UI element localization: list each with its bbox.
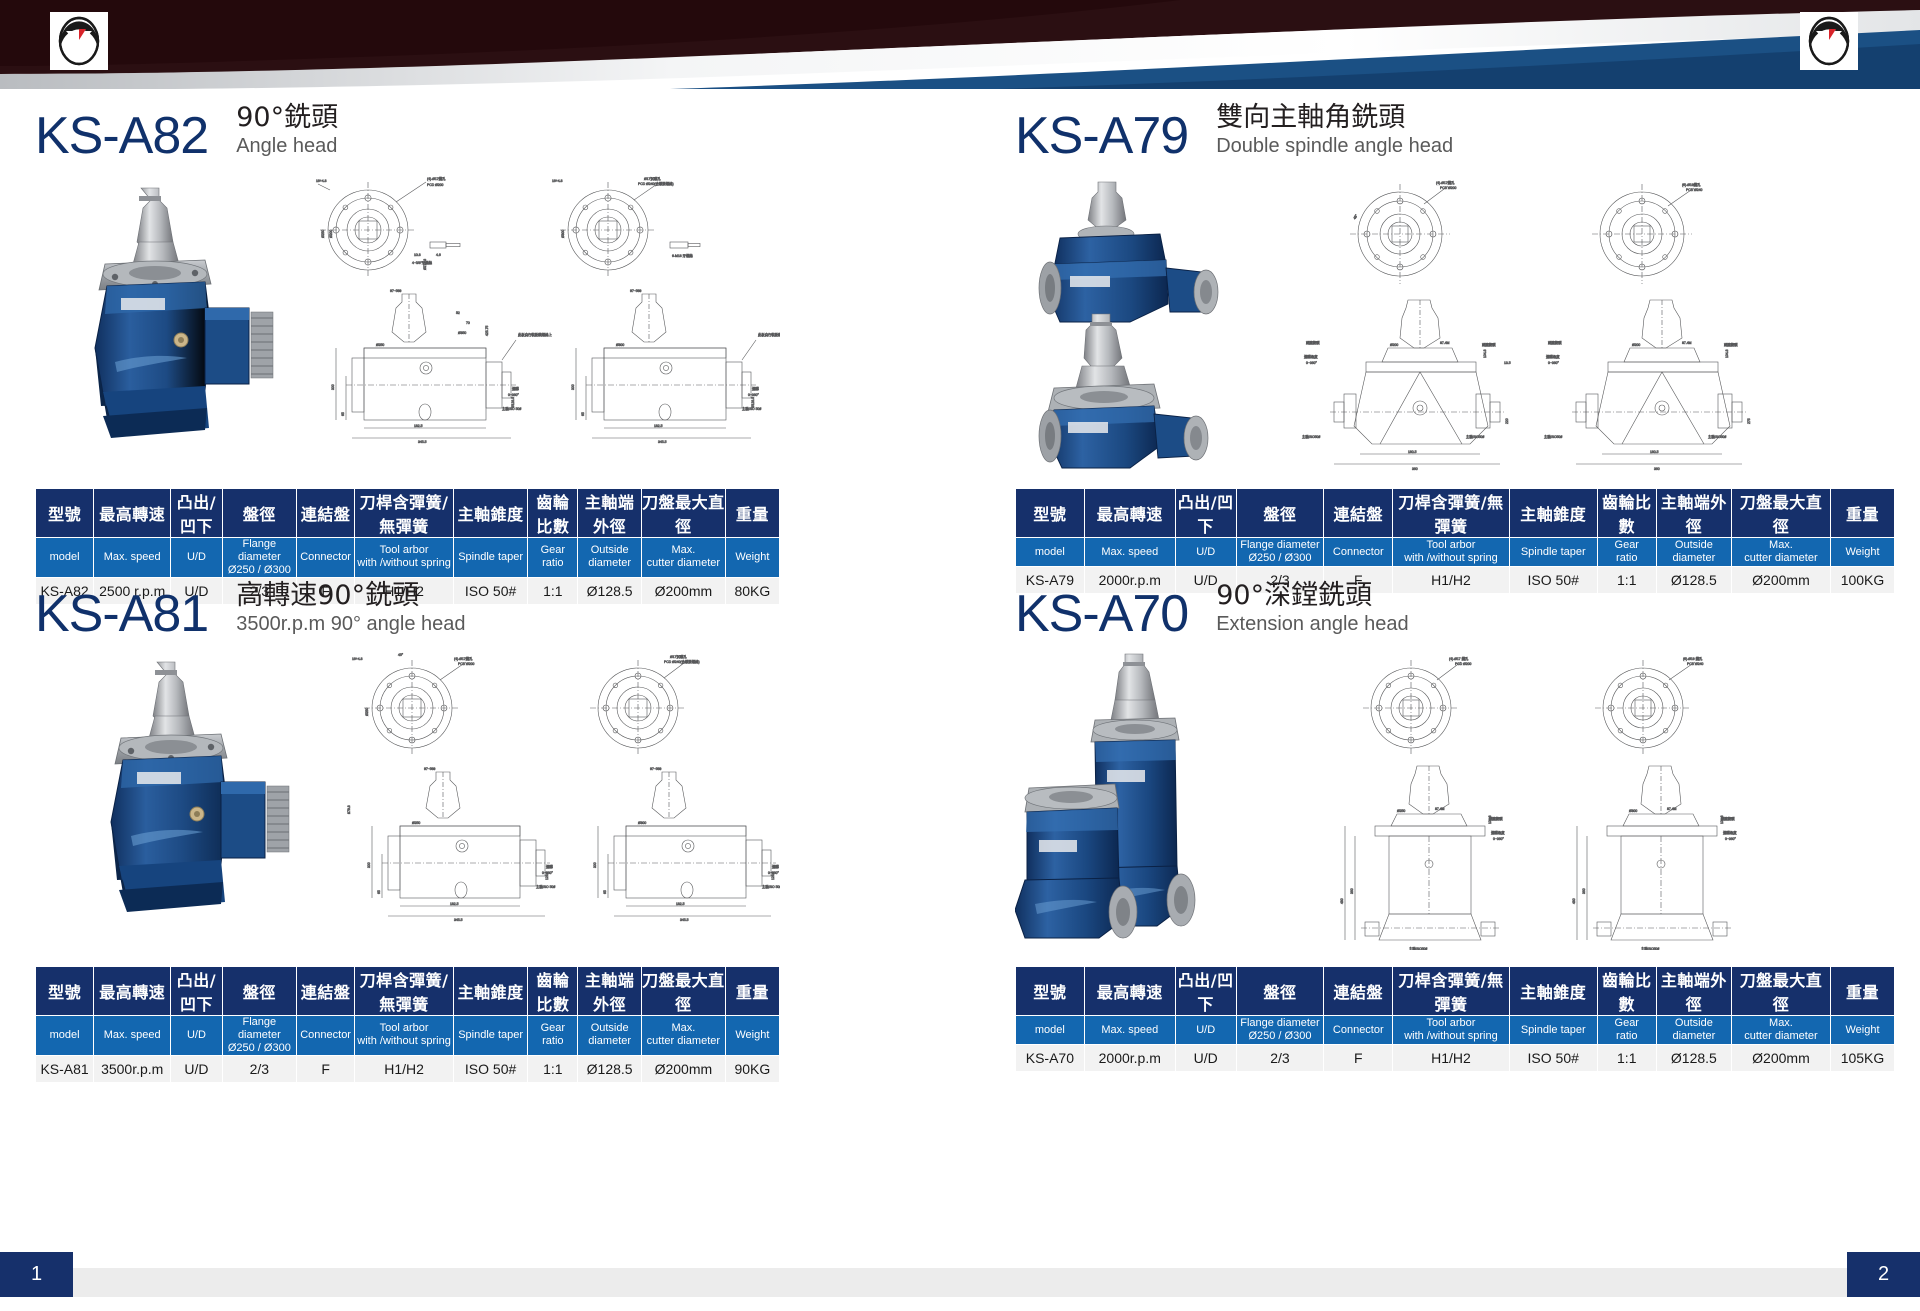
spec-header-cn-cell-3: 盤徑 xyxy=(1236,489,1324,538)
svg-text:182.5: 182.5 xyxy=(654,424,663,428)
svg-text:0~360°: 0~360° xyxy=(508,393,520,397)
product-title-cn: 90°深鏜銑頭 xyxy=(1216,581,1408,611)
svg-text:87.4M: 87.4M xyxy=(1667,807,1677,811)
svg-text:迴轉角度: 迴轉角度 xyxy=(1304,354,1318,359)
company-y-logo-icon xyxy=(1803,15,1855,67)
spec-header-cn-cell-1: 最高轉速 xyxy=(94,967,171,1016)
spec-header-cn-cell-7: 齒輪比數 xyxy=(1597,967,1656,1016)
ks-a70-product-photo xyxy=(1015,650,1235,965)
svg-text:Ø250: Ø250 xyxy=(412,821,420,825)
spec-value-0: KS-A70 xyxy=(1016,1045,1085,1072)
spec-header-cn-cell-10: 重量 xyxy=(1831,967,1895,1016)
svg-text:300: 300 xyxy=(571,384,575,390)
ks-a79-product-photo xyxy=(1020,172,1250,487)
spec-header-cn-cell-6: 主軸錐度 xyxy=(453,967,527,1016)
spec-header-en-cell-7: Gearratio xyxy=(1597,538,1656,567)
svg-text:主軸ISO50#: 主軸ISO50# xyxy=(1641,946,1659,950)
spec-table-body: 型號最高轉速凸出/凹下盤徑連結盤刀桿含彈簧/無彈簧主軸錐度齒輪比數主軸端外徑刀盤… xyxy=(1016,967,1895,1072)
svg-text:0~360°: 0~360° xyxy=(542,871,554,875)
spec-header-cn-cell-0: 型號 xyxy=(36,967,94,1016)
svg-text:10.8: 10.8 xyxy=(414,253,421,257)
svg-text:87.4M: 87.4M xyxy=(1440,341,1450,345)
svg-text:345.5: 345.5 xyxy=(418,440,427,444)
product-figure-area: (4)-Ø17 鑽孔 PCD Ø200 xyxy=(1015,650,1895,960)
svg-text:主軸ISO50#: 主軸ISO50# xyxy=(1708,434,1726,439)
svg-text:迴轉角度: 迴轉角度 xyxy=(1491,830,1505,835)
svg-text:0~360°: 0~360° xyxy=(1548,361,1560,365)
svg-text:360: 360 xyxy=(1582,888,1586,894)
spec-header-en-cell-0: model xyxy=(1016,1016,1085,1045)
spec-header-cn-cell-8: 主軸端外徑 xyxy=(1656,489,1731,538)
svg-text:PCD Ø240: PCD Ø240 xyxy=(1687,662,1704,666)
product-title-row: KS-A82 90°銑頭 Angle head xyxy=(35,92,780,162)
product-section-ks-a70: KS-A70 90°深鏜銑頭 Extension angle head xyxy=(1015,570,1895,1072)
spec-header-en-cell-6: Spindle taper xyxy=(453,1016,527,1056)
spec-header-en-cell-10: Weight xyxy=(1831,538,1895,567)
svg-text:主軸ISO50#: 主軸ISO50# xyxy=(1544,434,1562,439)
svg-text:0~360°: 0~360° xyxy=(1725,837,1737,841)
spec-value-10: 90KG xyxy=(725,1055,779,1082)
spec-header-en-cell-4: Connector xyxy=(1324,1016,1393,1045)
svg-text:4.6: 4.6 xyxy=(436,253,441,257)
spec-header-cn-cell-8: 主軸端外徑 xyxy=(578,967,642,1016)
spec-header-en-cell-0: model xyxy=(36,1016,94,1056)
svg-text:16+4.8: 16+4.8 xyxy=(552,179,563,183)
ks-a70-technical-drawing: (4)-Ø17 鑽孔 PCD Ø200 xyxy=(1295,650,1895,950)
svg-text:迴轉: 迴轉 xyxy=(546,864,553,869)
svg-text:刺塵接頭: 刺塵接頭 xyxy=(1548,340,1562,345)
svg-text:主軸ISO 50#: 主軸ISO 50# xyxy=(502,406,521,411)
product-title-en: 3500r.p.m 90° angle head xyxy=(236,612,465,636)
ks-a82-product-photo xyxy=(55,180,285,485)
svg-text:480: 480 xyxy=(1572,898,1576,904)
svg-text:Ø300: Ø300 xyxy=(616,343,624,347)
spec-header-cn-cell-7: 齒輪比數 xyxy=(1597,489,1656,538)
spec-value-2: U/D xyxy=(1175,1045,1236,1072)
page-header-banner xyxy=(0,0,1920,92)
spec-header-cn: 型號最高轉速凸出/凹下盤徑連結盤刀桿含彈簧/無彈簧主軸錐度齒輪比數主軸端外徑刀盤… xyxy=(36,967,780,1016)
spec-header-cn-cell-3: 盤徑 xyxy=(222,489,296,538)
svg-text:刺塵接頭: 刺塵接頭 xyxy=(1724,342,1738,347)
spec-header-en-cell-8: Outsidediameter xyxy=(1656,1016,1731,1045)
svg-text:Ø17沉頭孔: Ø17沉頭孔 xyxy=(670,654,687,659)
svg-text:97~569: 97~569 xyxy=(630,289,642,293)
spec-header-en-cell-7: Gearratio xyxy=(528,1016,578,1056)
svg-text:Ø250: Ø250 xyxy=(365,708,369,716)
spec-value-7: 1:1 xyxy=(1597,1045,1656,1072)
spec-header-en-cell-0: model xyxy=(1016,538,1085,567)
spec-header-cn-cell-9: 刀盤最大直徑 xyxy=(641,489,725,538)
table-row: KS-A702000r.p.mU/D2/3FH1/H2ISO 50#1:1Ø12… xyxy=(1016,1045,1895,1072)
page-number-left: 1 xyxy=(0,1252,73,1297)
spec-header-en: modelMax. speedU/DFlange diameterØ250 / … xyxy=(1016,1016,1895,1045)
spec-value-1: 3500r.p.m xyxy=(94,1055,171,1082)
spec-value-4: F xyxy=(297,1055,355,1082)
spec-header-en-cell-1: Max. speed xyxy=(1084,1016,1175,1045)
svg-text:迴轉: 迴轉 xyxy=(512,386,519,391)
spec-header-cn-cell-9: 刀盤最大直徑 xyxy=(641,967,725,1016)
svg-text:主軸ISO 50#: 主軸ISO 50# xyxy=(762,884,780,889)
svg-text:345.5: 345.5 xyxy=(680,918,689,922)
product-title-cn: 高轉速90°銑頭 xyxy=(236,581,465,611)
spec-header-en-cell-5: Tool arborwith /without spring xyxy=(1393,1016,1510,1045)
spec-header-en-cell-5: Tool arborwith /without spring xyxy=(355,1016,454,1056)
spec-header-cn-cell-2: 凸出/凹下 xyxy=(1175,967,1236,1016)
svg-text:PCD Ø240(含鎖緊螺絲): PCD Ø240(含鎖緊螺絲) xyxy=(664,659,700,664)
svg-text:97~569: 97~569 xyxy=(390,289,402,293)
spec-header-cn: 型號最高轉速凸出/凹下盤徑連結盤刀桿含彈簧/無彈簧主軸錐度齒輪比數主軸端外徑刀盤… xyxy=(36,489,780,538)
svg-text:0~360°: 0~360° xyxy=(768,871,780,875)
spec-header-cn-cell-6: 主軸錐度 xyxy=(453,489,527,538)
product-title-en: Extension angle head xyxy=(1216,612,1408,636)
svg-text:65: 65 xyxy=(377,890,381,894)
svg-text:300: 300 xyxy=(331,384,335,390)
svg-text:16+4.8: 16+4.8 xyxy=(352,657,363,661)
spec-header-en-cell-4: Connector xyxy=(1324,538,1393,567)
svg-text:迴轉: 迴轉 xyxy=(772,864,779,869)
svg-text:Ø300: Ø300 xyxy=(1629,809,1637,813)
svg-text:ß79.8: ß79.8 xyxy=(347,805,351,814)
product-figure-area: (4)-Ø17鑽孔 PCD Ø200 Ø250 Ø200 16+4.8 10.8… xyxy=(35,172,780,482)
company-y-logo-icon xyxy=(53,15,105,67)
spec-header-cn-cell-9: 刀盤最大直徑 xyxy=(1731,967,1830,1016)
svg-text:52: 52 xyxy=(456,311,460,315)
spec-header-en-cell-9: Max.cutter diameter xyxy=(1731,1016,1830,1045)
svg-text:104.8: 104.8 xyxy=(1725,349,1729,358)
svg-text:Ø250: Ø250 xyxy=(321,230,325,238)
spec-header-cn-cell-6: 主軸錐度 xyxy=(1509,967,1597,1016)
table-row: KS-A813500r.p.mU/D2/3FH1/H2ISO 50#1:1Ø12… xyxy=(36,1055,780,1082)
spec-header-cn-cell-1: 最高轉速 xyxy=(1084,967,1175,1016)
product-figure-area: (4)-Ø17鑽孔 PCD Ø200 45° xyxy=(1015,172,1895,482)
spec-header-cn-cell-7: 齒輪比數 xyxy=(528,489,578,538)
svg-text:97~569: 97~569 xyxy=(424,767,436,771)
svg-text:0~360°: 0~360° xyxy=(1493,837,1505,841)
spec-table-body: 型號最高轉速凸出/凹下盤徑連結盤刀桿含彈簧/無彈簧主軸錐度齒輪比數主軸端外徑刀盤… xyxy=(36,967,780,1083)
spec-header-en: modelMax. speedU/DFlange diameterØ250 / … xyxy=(36,1016,780,1056)
svg-text:180.5: 180.5 xyxy=(1408,450,1417,454)
svg-text:360: 360 xyxy=(1412,467,1418,471)
spec-value-2: U/D xyxy=(171,1055,222,1082)
spec-header-cn-cell-9: 刀盤最大直徑 xyxy=(1731,489,1830,538)
svg-text:主軸ISO50#: 主軸ISO50# xyxy=(1302,434,1320,439)
svg-text:主軸ISO50#: 主軸ISO50# xyxy=(1409,946,1427,950)
svg-text:300: 300 xyxy=(593,862,597,868)
spec-header-cn-cell-0: 型號 xyxy=(1016,967,1085,1016)
svg-text:PCD Ø200: PCD Ø200 xyxy=(1455,662,1472,666)
product-section-ks-a79: KS-A79 雙向主軸角銑頭 Double spindle angle head xyxy=(1015,92,1895,594)
spec-header-en-cell-3: Flange diameterØ250 / Ø300 xyxy=(1236,1016,1324,1045)
spec-header-cn-cell-4: 連結盤 xyxy=(1324,967,1393,1016)
product-title-cn: 90°銑頭 xyxy=(236,103,338,133)
spec-value-10: 105KG xyxy=(1831,1045,1895,1072)
svg-text:87.4M: 87.4M xyxy=(1682,341,1692,345)
svg-text:87.4M: 87.4M xyxy=(1435,807,1445,811)
spec-header-en-cell-9: Max.cutter diameter xyxy=(641,1016,725,1056)
spec-header-cn-cell-3: 盤徑 xyxy=(222,967,296,1016)
spec-header-cn-cell-3: 盤徑 xyxy=(1236,967,1324,1016)
product-model-name: KS-A70 xyxy=(1015,588,1188,640)
spec-header-cn-cell-1: 最高轉速 xyxy=(94,489,171,538)
svg-text:迴轉角度: 迴轉角度 xyxy=(1723,830,1737,835)
spec-header-en-cell-6: Spindle taper xyxy=(1509,1016,1597,1045)
product-title-row: KS-A81 高轉速90°銑頭 3500r.p.m 90° angle head xyxy=(35,570,780,640)
spec-value-9: Ø200mm xyxy=(1731,1045,1830,1072)
spec-header-en-cell-8: Outsidediameter xyxy=(578,1016,642,1056)
svg-text:182.5: 182.5 xyxy=(450,902,459,906)
svg-text:刺塵接頭: 刺塵接頭 xyxy=(1482,342,1496,347)
spec-header-en-cell-5: Tool arborwith /without spring xyxy=(1393,538,1510,567)
svg-text:Ø250: Ø250 xyxy=(376,343,384,347)
svg-text:360: 360 xyxy=(1654,467,1660,471)
spec-table-ks-a81: 型號最高轉速凸出/凹下盤徑連結盤刀桿含彈簧/無彈簧主軸錐度齒輪比數主軸端外徑刀盤… xyxy=(35,966,780,1083)
product-title-en: Angle head xyxy=(236,134,338,158)
spec-header-en-cell-10: Weight xyxy=(1831,1016,1895,1045)
spec-header-en-cell-1: Max. speed xyxy=(94,1016,171,1056)
product-title-row: KS-A70 90°深鏜銑頭 Extension angle head xyxy=(1015,570,1895,640)
svg-text:182.5: 182.5 xyxy=(676,902,685,906)
svg-text:(4)-Ø17鑽孔: (4)-Ø17鑽孔 xyxy=(1436,180,1455,185)
spec-header-en-cell-10: Weight xyxy=(725,1016,779,1056)
ks-a79-technical-drawing: (4)-Ø17鑽孔 PCD Ø200 45° xyxy=(1290,172,1895,472)
ks-a81-technical-drawing: (4)-Ø17鑽孔 PCD Ø200 45° Ø250 xyxy=(320,650,780,950)
spec-header-cn-cell-2: 凸出/凹下 xyxy=(1175,489,1236,538)
svg-text:425.75: 425.75 xyxy=(485,326,489,336)
svg-text:0~360°: 0~360° xyxy=(1306,361,1318,365)
svg-text:275: 275 xyxy=(1747,418,1751,424)
product-model-name: KS-A79 xyxy=(1015,110,1188,162)
spec-header-cn-cell-5: 刀桿含彈簧/無彈簧 xyxy=(1393,967,1510,1016)
svg-text:70: 70 xyxy=(466,321,470,325)
svg-text:迴轉角度: 迴轉角度 xyxy=(1546,354,1560,359)
svg-text:360: 360 xyxy=(1350,888,1354,894)
spec-value-1: 2000r.p.m xyxy=(1084,1045,1175,1072)
svg-text:PCD Ø240: PCD Ø240 xyxy=(1686,188,1703,192)
svg-text:97~569: 97~569 xyxy=(650,767,662,771)
svg-text:主軸ISO 50#: 主軸ISO 50# xyxy=(742,406,761,411)
svg-text:刺塵接頭: 刺塵接頭 xyxy=(1489,816,1503,821)
page-footer: 1 2 xyxy=(0,1252,1920,1311)
catalog-page-body: KS-A82 90°銑頭 Angle head xyxy=(0,92,1920,1252)
svg-text:65: 65 xyxy=(341,412,345,416)
spec-header-en-cell-8: Outsidediameter xyxy=(1656,538,1731,567)
svg-text:PCD Ø200: PCD Ø200 xyxy=(458,662,475,666)
svg-text:刺塵接頭: 刺塵接頭 xyxy=(1721,816,1735,821)
svg-text:(6)-Ø19 鑽孔: (6)-Ø19 鑽孔 xyxy=(1683,656,1703,661)
spec-header-cn-cell-0: 型號 xyxy=(1016,489,1085,538)
svg-text:Ø350: Ø350 xyxy=(458,331,466,335)
svg-text:220: 220 xyxy=(1505,418,1509,424)
spec-value-5: H1/H2 xyxy=(1393,1045,1510,1072)
svg-text:182.5: 182.5 xyxy=(414,424,423,428)
spec-header-en-cell-3: Flange diameterØ250 / Ø300 xyxy=(222,1016,296,1056)
product-figure-area: (4)-Ø17鑽孔 PCD Ø200 45° Ø250 xyxy=(35,650,780,960)
spec-header-en-cell-2: U/D xyxy=(171,1016,222,1056)
svg-text:Ø200: Ø200 xyxy=(1632,343,1640,347)
product-model-name: KS-A82 xyxy=(35,110,208,162)
product-title-en: Double spindle angle head xyxy=(1216,134,1453,158)
svg-text:PCD Ø200: PCD Ø200 xyxy=(427,183,444,187)
product-title-cn: 雙向主軸角銑頭 xyxy=(1216,103,1453,133)
spec-value-8: Ø128.5 xyxy=(578,1055,642,1082)
spec-table-ks-a70: 型號最高轉速凸出/凹下盤徑連結盤刀桿含彈簧/無彈簧主軸錐度齒輪比數主軸端外徑刀盤… xyxy=(1015,966,1895,1072)
spec-header-en-cell-7: Gearratio xyxy=(1597,1016,1656,1045)
spec-value-3: 2/3 xyxy=(1236,1045,1324,1072)
footer-bar xyxy=(0,1268,1920,1297)
svg-text:65: 65 xyxy=(603,890,607,894)
svg-text:16+4.8: 16+4.8 xyxy=(316,179,327,183)
svg-text:45°: 45° xyxy=(398,653,404,657)
svg-text:PCD Ø240(含鎖緊螺絲): PCD Ø240(含鎖緊螺絲) xyxy=(638,181,674,186)
svg-text:104.8: 104.8 xyxy=(1483,349,1487,358)
ks-a81-product-photo xyxy=(73,656,303,961)
spec-header-cn-cell-6: 主軸錐度 xyxy=(1509,489,1597,538)
spec-header-en-cell-6: Spindle taper xyxy=(1509,538,1597,567)
spec-header-cn-cell-5: 刀桿含彈簧/無彈簧 xyxy=(1393,489,1510,538)
spec-header-cn-cell-4: 連結盤 xyxy=(297,967,355,1016)
svg-text:(4)-Ø17 鑽孔: (4)-Ø17 鑽孔 xyxy=(1449,656,1469,661)
spec-header-cn: 型號最高轉速凸出/凹下盤徑連結盤刀桿含彈簧/無彈簧主軸錐度齒輪比數主軸端外徑刀盤… xyxy=(1016,967,1895,1016)
svg-text:主軸ISO50#: 主軸ISO50# xyxy=(1466,434,1484,439)
spec-value-0: KS-A81 xyxy=(36,1055,94,1082)
company-logo-right xyxy=(1800,12,1858,70)
svg-text:此板自行裝配鎖螺絲上: 此板自行裝配鎖螺絲上 xyxy=(518,332,553,337)
svg-text:此板自行裝配鎖螺絲上: 此板自行裝配鎖螺絲上 xyxy=(758,332,780,337)
spec-header-cn-cell-10: 重量 xyxy=(725,489,779,538)
svg-text:Ø17沉頭孔: Ø17沉頭孔 xyxy=(644,176,661,181)
spec-header-cn-cell-2: 凸出/凹下 xyxy=(171,489,222,538)
svg-text:65: 65 xyxy=(581,412,585,416)
svg-text:Ø200: Ø200 xyxy=(1390,343,1398,347)
spec-value-6: ISO 50# xyxy=(453,1055,527,1082)
spec-header-en-cell-9: Max.cutter diameter xyxy=(1731,538,1830,567)
svg-text:0~360°: 0~360° xyxy=(748,393,760,397)
page-number-right: 2 xyxy=(1847,1252,1920,1297)
product-title-row: KS-A79 雙向主軸角銑頭 Double spindle angle head xyxy=(1015,92,1895,162)
spec-header-cn-cell-1: 最高轉速 xyxy=(1084,489,1175,538)
svg-text:主軸ISO 50#: 主軸ISO 50# xyxy=(536,884,555,889)
svg-text:(4)-Ø17鑽孔: (4)-Ø17鑽孔 xyxy=(454,656,473,661)
product-section-ks-a82: KS-A82 90°銑頭 Angle head xyxy=(35,92,780,605)
spec-header-en-cell-2: U/D xyxy=(1175,1016,1236,1045)
spec-header-cn-cell-7: 齒輪比數 xyxy=(528,967,578,1016)
spec-header-cn-cell-10: 重量 xyxy=(1831,489,1895,538)
spec-header-cn-cell-8: 主軸端外徑 xyxy=(1656,967,1731,1016)
company-logo-left xyxy=(50,12,108,70)
spec-header-cn-cell-10: 重量 xyxy=(725,967,779,1016)
svg-text:13.5: 13.5 xyxy=(1504,361,1511,365)
spec-header-cn-cell-4: 連結盤 xyxy=(297,489,355,538)
ks-a82-technical-drawing: (4)-Ø17鑽孔 PCD Ø200 Ø250 Ø200 16+4.8 10.8… xyxy=(290,172,780,472)
product-model-name: KS-A81 xyxy=(35,588,208,640)
spec-header-en-cell-3: Flange diameterØ250 / Ø300 xyxy=(1236,538,1324,567)
spec-header-cn: 型號最高轉速凸出/凹下盤徑連結盤刀桿含彈簧/無彈簧主軸錐度齒輪比數主軸端外徑刀盤… xyxy=(1016,489,1895,538)
spec-header-cn-cell-5: 刀桿含彈簧/無彈簧 xyxy=(355,489,454,538)
svg-text:45°: 45° xyxy=(1353,213,1359,220)
svg-text:Ø300: Ø300 xyxy=(561,230,565,238)
product-section-ks-a81: KS-A81 高轉速90°銑頭 3500r.p.m 90° angle head xyxy=(35,570,780,1083)
svg-text:Ø250: Ø250 xyxy=(1397,809,1405,813)
spec-header-cn-cell-8: 主軸端外徑 xyxy=(578,489,642,538)
svg-text:Ø300: Ø300 xyxy=(638,821,646,825)
spec-value-8: Ø128.5 xyxy=(1656,1045,1731,1072)
spec-value-7: 1:1 xyxy=(528,1055,578,1082)
svg-text:迴轉: 迴轉 xyxy=(752,386,759,391)
spec-header-en-cell-4: Connector xyxy=(297,1016,355,1056)
svg-text:PCD Ø200: PCD Ø200 xyxy=(1440,186,1457,190)
svg-text:480: 480 xyxy=(1340,898,1344,904)
spec-header-en-cell-2: U/D xyxy=(1175,538,1236,567)
svg-text:180.5: 180.5 xyxy=(1650,450,1659,454)
svg-text:Ø200: Ø200 xyxy=(329,230,333,238)
spec-value-4: F xyxy=(1324,1045,1393,1072)
svg-text:Ø274.8: Ø274.8 xyxy=(423,259,427,270)
svg-text:300: 300 xyxy=(367,862,371,868)
spec-value-5: H1/H2 xyxy=(355,1055,454,1082)
svg-text:(6)-Ø19鑽孔: (6)-Ø19鑽孔 xyxy=(1682,182,1701,187)
svg-text:345.5: 345.5 xyxy=(454,918,463,922)
spec-header-cn-cell-4: 連結盤 xyxy=(1324,489,1393,538)
svg-text:刺塵接頭: 刺塵接頭 xyxy=(1306,340,1320,345)
spec-header-en: modelMax. speedU/DFlange diameterØ250 / … xyxy=(1016,538,1895,567)
svg-text:345.5: 345.5 xyxy=(658,440,667,444)
svg-text:6-M18 牙螺絲: 6-M18 牙螺絲 xyxy=(672,253,693,258)
spec-header-cn-cell-2: 凸出/凹下 xyxy=(171,967,222,1016)
svg-text:(4)-Ø17鑽孔: (4)-Ø17鑽孔 xyxy=(427,176,446,181)
spec-value-6: ISO 50# xyxy=(1509,1045,1597,1072)
spec-header-cn-cell-5: 刀桿含彈簧/無彈簧 xyxy=(355,967,454,1016)
spec-header-cn-cell-0: 型號 xyxy=(36,489,94,538)
spec-value-9: Ø200mm xyxy=(641,1055,725,1082)
spec-value-3: 2/3 xyxy=(222,1055,296,1082)
spec-header-en-cell-1: Max. speed xyxy=(1084,538,1175,567)
